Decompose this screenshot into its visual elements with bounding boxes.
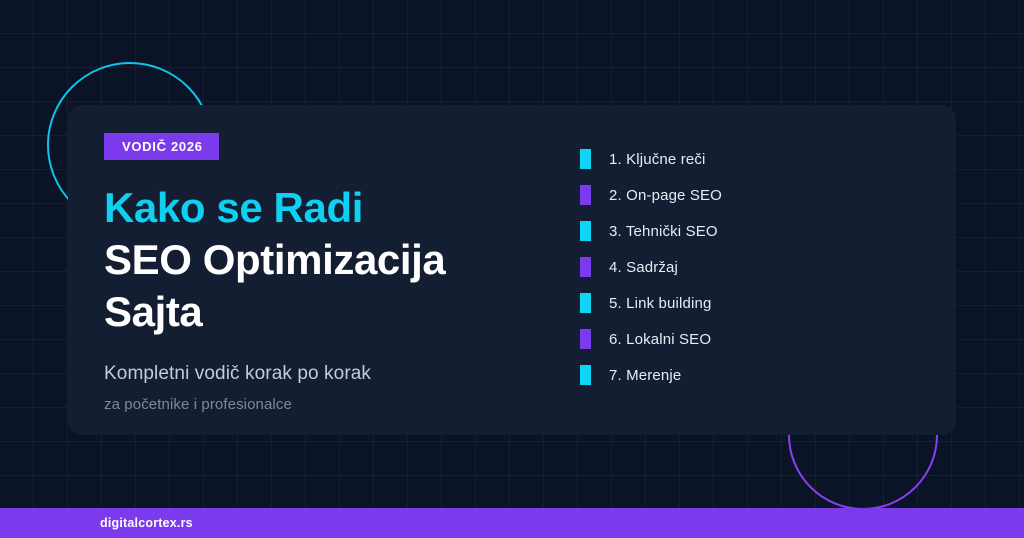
list-item-label: 2. On-page SEO <box>609 187 722 204</box>
list-item[interactable]: 6. Lokalni SEO <box>580 321 722 357</box>
list-item-label: 4. Sadržaj <box>609 259 678 276</box>
list-item[interactable]: 4. Sadržaj <box>580 249 722 285</box>
hero-card: VODIČ 2026 Kako se Radi SEO Optimizacija… <box>68 105 956 435</box>
list-item[interactable]: 1. Ključne reči <box>580 141 722 177</box>
list-item-label: 5. Link building <box>609 295 711 312</box>
list-item-label: 6. Lokalni SEO <box>609 331 711 348</box>
footer-bar: digitalcortex.rs <box>0 508 1024 538</box>
promo-graphic: VODIČ 2026 Kako se Radi SEO Optimizacija… <box>0 0 1024 538</box>
bullet-square-icon <box>580 293 591 313</box>
bullet-square-icon <box>580 185 591 205</box>
page-title-line-1: Kako se Radi <box>104 182 538 234</box>
page-title: Kako se Radi SEO Optimizacija Sajta <box>104 182 538 338</box>
guide-year-badge: VODIČ 2026 <box>104 133 219 160</box>
bullet-square-icon <box>580 221 591 241</box>
site-url-label[interactable]: digitalcortex.rs <box>100 516 193 530</box>
list-item[interactable]: 3. Tehnički SEO <box>580 213 722 249</box>
page-title-line-3: Sajta <box>104 286 538 338</box>
page-title-line-2: SEO Optimizacija <box>104 234 538 286</box>
table-of-contents-list: 1. Ključne reči 2. On-page SEO 3. Tehnič… <box>538 105 722 393</box>
bullet-square-icon <box>580 329 591 349</box>
list-item-label: 3. Tehnički SEO <box>609 223 718 240</box>
list-item-label: 7. Merenje <box>609 367 681 384</box>
bullet-square-icon <box>580 257 591 277</box>
subtitle-secondary: za početnike i profesionalce <box>104 396 538 413</box>
list-item[interactable]: 2. On-page SEO <box>580 177 722 213</box>
subtitle-primary: Kompletni vodič korak po korak <box>104 363 538 385</box>
bullet-square-icon <box>580 149 591 169</box>
hero-text-column: VODIČ 2026 Kako se Radi SEO Optimizacija… <box>68 105 538 413</box>
list-item-label: 1. Ključne reči <box>609 151 705 168</box>
list-item[interactable]: 5. Link building <box>580 285 722 321</box>
bullet-square-icon <box>580 365 591 385</box>
list-item[interactable]: 7. Merenje <box>580 357 722 393</box>
